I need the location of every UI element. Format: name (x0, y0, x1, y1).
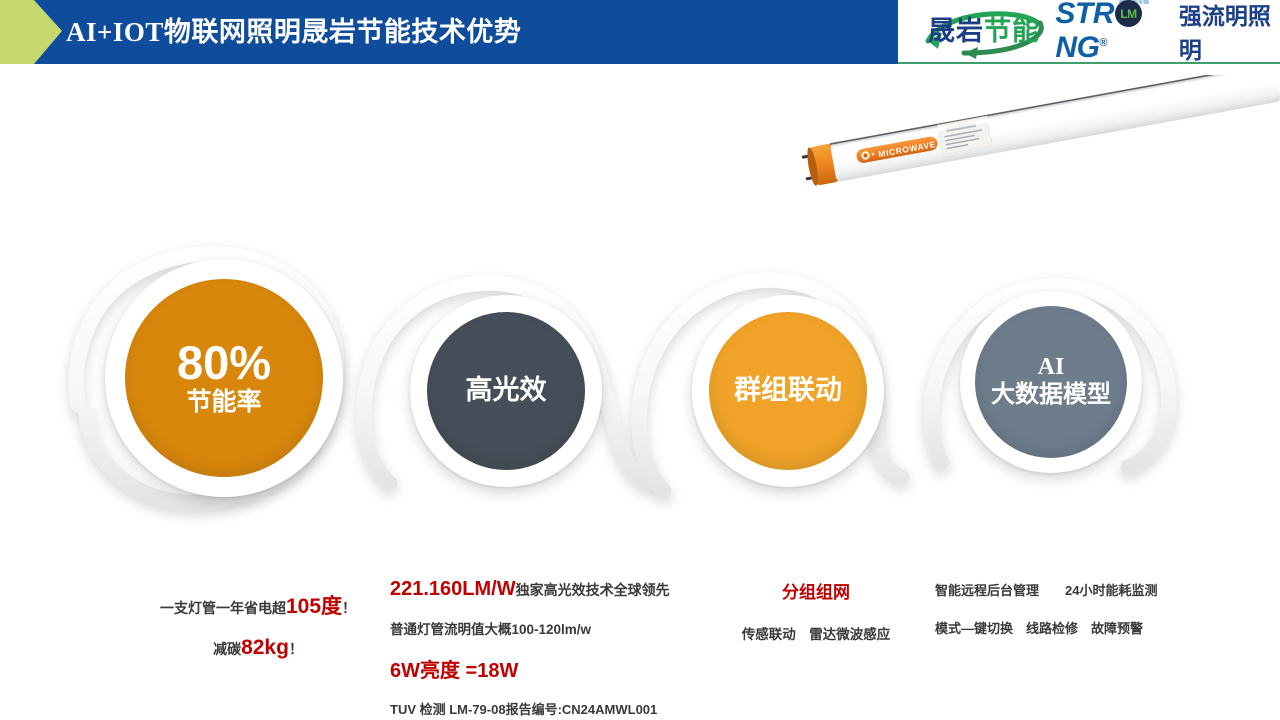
caption-ai-line-2: 模式—键切换 线路检修 故障预警 (935, 618, 1195, 637)
caption-linkage-line-2: 传感联动 雷达微波感应 (706, 623, 926, 643)
cap1-l1-post: ！ (342, 600, 356, 616)
caption-ai-line-1: 智能远程后台管理 24小时能耗监测 (935, 580, 1195, 599)
node-ai-bigdata-disc: AI 大数据模型 (975, 306, 1127, 458)
node-energy-saving-label: 节能率 (186, 387, 261, 417)
brand-wordmark: STRLMNG® 强流明照明 (1055, 3, 1280, 59)
cap1-l2-num: 82kg (241, 636, 289, 659)
node-group-linkage-label: 群组联动 (734, 374, 842, 408)
brand-logo-panel: 晟岩节能 STRLMNG® 强流明照明 (898, 0, 1280, 64)
brand-cn-prefix: 晟岩 (928, 16, 984, 46)
wordmark-badge-text: LM (1115, 0, 1142, 27)
cap1-l1-num: 105度 (286, 595, 342, 618)
node-high-efficacy[interactable]: 高光效 (410, 295, 602, 487)
caption-group-linkage: 分组组网 传感联动 雷达微波感应 (706, 578, 926, 643)
cap1-l1-pre: 一支灯管一年省电超 (160, 600, 286, 616)
brand-cn-suffix: 节能 (984, 16, 1040, 46)
node-ai-bigdata-title: AI (1038, 354, 1065, 382)
brand-tagline: 强流明照明 (1179, 0, 1280, 64)
brand-chinese-logo: 晟岩节能 (898, 3, 1049, 59)
caption-efficacy-line-3: 6W亮度 =18W (390, 654, 720, 683)
node-energy-saving[interactable]: 80% 节能率 (105, 259, 343, 497)
caption-ai-bigdata: 智能远程后台管理 24小时能耗监测 模式—键切换 线路检修 故障预警 (935, 580, 1195, 637)
node-energy-saving-disc: 80% 节能率 (125, 279, 323, 477)
caption-efficacy-line-4: TUV 检测 LM-79-08报告编号:CN24AMWL001 (390, 699, 720, 718)
node-high-efficacy-label: 高光效 (466, 374, 547, 408)
caption-energy-line-1: 一支灯管一年省电超105度！ (108, 590, 408, 620)
node-ai-bigdata[interactable]: AI 大数据模型 (960, 291, 1142, 473)
node-group-linkage-disc: 群组联动 (709, 312, 867, 470)
led-tube-product-image: MICROWAVE (770, 75, 1280, 205)
brand-chinese-chars: 晟岩节能 (898, 3, 1070, 59)
page-title: AI+IOT物联网照明晟岩节能技术优势 (66, 0, 521, 64)
registered-mark: ® (1099, 37, 1107, 49)
header-bar: AI+IOT物联网照明晟岩节能技术优势 晟岩节能 (0, 0, 1280, 64)
node-group-linkage[interactable]: 群组联动 (692, 295, 884, 487)
feature-flow-diagram: 80% 节能率 高光效 群组联动 AI 大数据模型 (0, 215, 1280, 545)
cap1-l2-pre: 减碳 (213, 641, 241, 657)
chevron-right-icon (0, 0, 62, 64)
caption-high-efficacy: 221.160LM/W独家高光效技术全球领先 普通灯管流明值大概100-120l… (390, 578, 720, 718)
caption-efficacy-line-1: 221.160LM/W独家高光效技术全球领先 (390, 578, 720, 601)
cap2-lumen-value: 221.160LM/W (390, 578, 516, 600)
caption-efficacy-line-2: 普通灯管流明值大概100-120lm/w (390, 618, 720, 638)
cap1-l2-post: ！ (289, 641, 303, 657)
wordmark-lm-badge: LM (1115, 0, 1142, 27)
caption-linkage-line-1: 分组组网 (706, 578, 926, 603)
caption-energy-saving: 一支灯管一年省电超105度！ 减碳82kg！ (108, 590, 408, 660)
node-high-efficacy-disc: 高光效 (427, 312, 585, 470)
cap2-lumen-post: 独家高光效技术全球领先 (516, 582, 670, 598)
node-energy-saving-value: 80% (177, 339, 271, 387)
node-ai-bigdata-label: 大数据模型 (991, 381, 1111, 410)
caption-energy-line-2: 减碳82kg！ (108, 636, 408, 660)
